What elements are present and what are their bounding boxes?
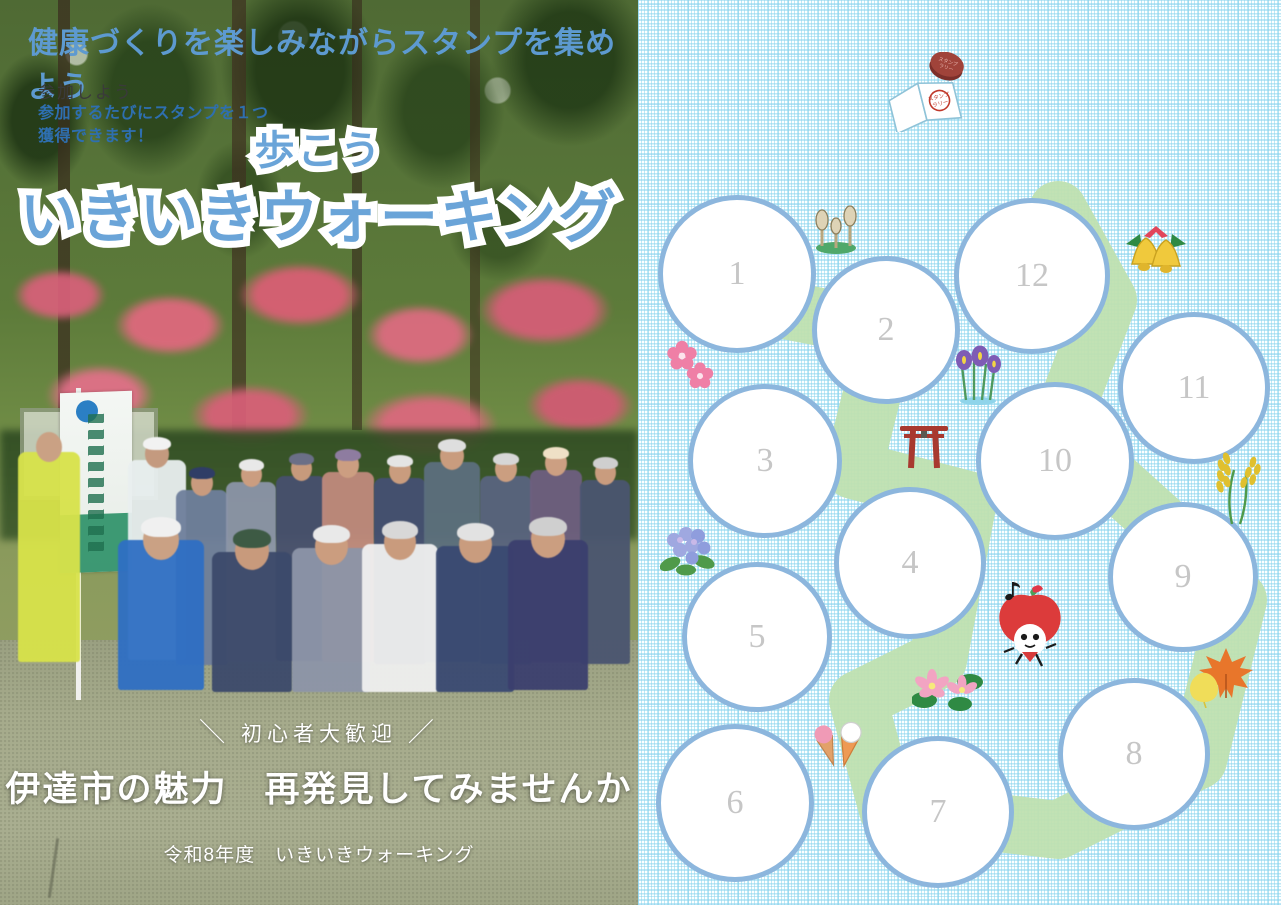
photo-person [212,552,292,692]
iris-flower-icon [950,338,1006,406]
photo-person [18,452,80,662]
poster-catch-lead-text: 初心者大歓迎 [241,723,397,746]
stamp-circle-number: 5 [749,618,766,656]
photo-person-cap [335,449,361,461]
stamp-circle-6[interactable]: 6 [656,724,814,882]
poster-fiscal-year: 令和8年度 いきいきウォーキング [0,840,638,867]
photo-person-cap [457,523,494,541]
stamp-circle-number: 6 [727,784,744,822]
slash-right-icon: ／ [408,712,439,749]
stamp-circle-number: 1 [729,255,746,293]
stamp-circle-2[interactable]: 2 [812,256,960,404]
ginkgo-leaf-icon [1184,672,1224,708]
photo-person-cap [543,447,569,459]
music-note-icon [1004,578,1026,602]
stamp-circle-number: 11 [1178,369,1211,407]
photo-person [508,540,588,690]
stamp-circle-number: 4 [902,544,919,582]
poster-catchphrase-block: ＼ 初心者大歓迎 ／ 伊達市の魅力 再発見してみませんか [0,712,638,812]
stamp-book-icon: スタンプ ラリー スタンプ ラリー [880,52,970,132]
poster-page: 歩こう いきいきウォーキング ＼ 初心者大歓迎 ／ 伊達市の魅力 再発見してみま… [0,0,1281,905]
stamp-circle-11[interactable]: 11 [1118,312,1270,464]
photo-person-head [36,432,62,462]
stamp-circle-4[interactable]: 4 [834,487,986,639]
stamp-circle-number: 2 [878,311,895,349]
photo-person-cap [239,459,264,471]
slash-left-icon: ＼ [199,712,230,749]
torii-gate-icon [896,420,952,472]
photo-person [362,544,438,692]
photo-person-cap [189,467,215,479]
stamp-circle-5[interactable]: 5 [682,562,832,712]
cherry-blossom-icon [664,338,720,394]
stamp-circle-number: 12 [1015,257,1049,295]
stamp-circle-number: 3 [757,442,774,480]
participate-line-1: 参加するたびにスタンプを１つ [38,102,269,125]
hydrangea-icon [660,520,718,576]
poster-title-small: 歩こう [255,118,384,176]
participate-description: 参加するたびにスタンプを１つ 獲得できます！ [38,102,269,148]
poster-catch-main: 伊達市の魅力 再発見してみませんか [0,761,638,812]
photo-person-cap [141,517,181,537]
tsukushi-horsetail-icon [808,192,864,254]
participate-heading: 参加しよう [38,78,133,103]
photo-person-cap [593,457,618,469]
photo-person-cap [438,439,466,452]
photo-person-cap [233,529,271,548]
stamp-circle-7[interactable]: 7 [862,736,1014,888]
photo-person-cap [387,455,413,467]
photo-person-cap [493,453,519,465]
participate-line-2: 獲得できます！ [38,125,269,148]
stamp-circle-3[interactable]: 3 [688,384,842,538]
photo-person-cap [143,437,171,450]
photo-person [118,540,204,690]
stamp-circle-number: 9 [1175,558,1192,596]
lotus-flower-icon [912,664,984,712]
poster-title-main: いきいきウォーキング [0,170,638,254]
photo-person [436,546,514,692]
photo-person [292,548,370,692]
poster-catch-lead: ＼ 初心者大歓迎 ／ [0,712,638,749]
stamp-circle-1[interactable]: 1 [658,195,816,353]
photo-person-cap [529,517,567,536]
stamp-circle-12[interactable]: 12 [954,198,1110,354]
christmas-bells-icon [1120,222,1192,280]
photo-person-cap [289,453,314,465]
photo-person-cap [382,521,418,539]
stamp-circle-number: 8 [1126,735,1143,773]
rice-ear-icon [1206,448,1266,526]
photo-person-cap [313,525,350,543]
stamp-circle-number: 7 [930,793,947,831]
stamp-circle-number: 10 [1038,442,1072,480]
ice-cream-cone-icon [806,708,872,770]
